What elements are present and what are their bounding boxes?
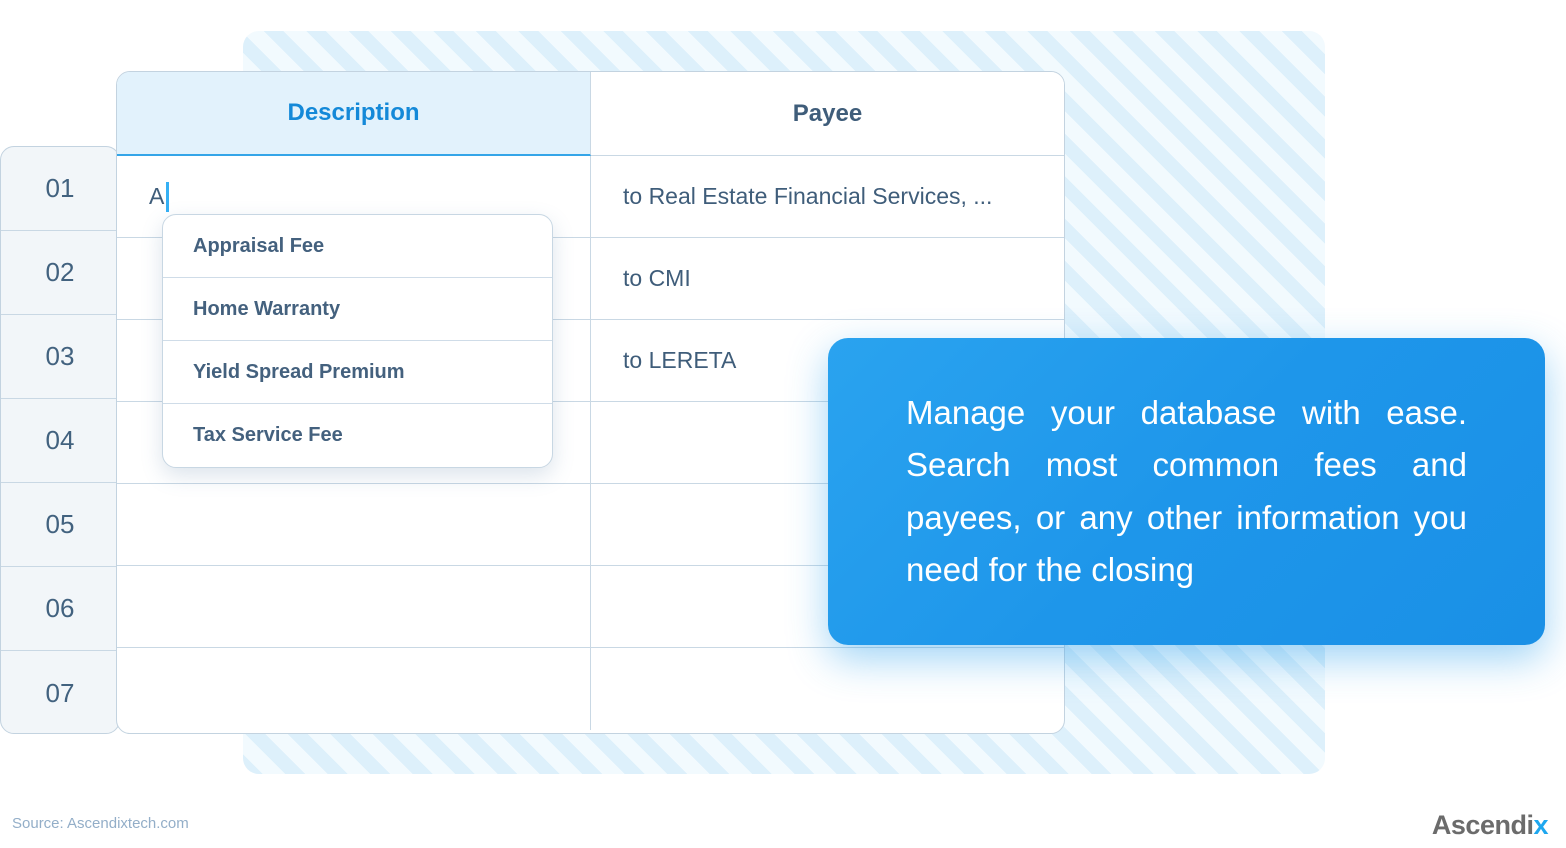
- row-index-cell: 04: [1, 399, 119, 483]
- autocomplete-option[interactable]: Tax Service Fee: [163, 404, 552, 467]
- logo-wordmark: Ascendi: [1432, 810, 1534, 840]
- row-index-cell: 02: [1, 231, 119, 315]
- payee-cell[interactable]: to Real Estate Financial Services, ...: [591, 156, 1064, 237]
- row-index-cell: 07: [1, 651, 119, 734]
- autocomplete-option[interactable]: Yield Spread Premium: [163, 341, 552, 404]
- logo-accent-letter: x: [1533, 810, 1548, 840]
- ascendix-logo: Ascendix: [1432, 810, 1548, 841]
- description-cell[interactable]: [117, 648, 591, 730]
- autocomplete-dropdown: Appraisal Fee Home Warranty Yield Spread…: [162, 214, 553, 468]
- row-index-cell: 03: [1, 315, 119, 399]
- autocomplete-option[interactable]: Home Warranty: [163, 278, 552, 341]
- description-cell[interactable]: [117, 566, 591, 647]
- description-input-wrap: A: [149, 182, 169, 212]
- description-cell[interactable]: [117, 484, 591, 565]
- description-input-value: A: [149, 183, 164, 210]
- column-header-description[interactable]: Description: [117, 72, 591, 156]
- table-row: [117, 648, 1064, 730]
- feature-callout: Manage your database with ease. Search m…: [828, 338, 1545, 645]
- row-index-cell: 01: [1, 147, 119, 231]
- payee-cell[interactable]: to CMI: [591, 238, 1064, 319]
- row-index-cell: 06: [1, 567, 119, 651]
- text-cursor-icon: [166, 182, 169, 212]
- autocomplete-option[interactable]: Appraisal Fee: [163, 215, 552, 278]
- column-header-payee[interactable]: Payee: [591, 72, 1064, 156]
- source-note: Source: Ascendixtech.com: [12, 815, 189, 832]
- payee-cell[interactable]: [591, 648, 1064, 730]
- callout-text: Manage your database with ease. Search m…: [906, 387, 1467, 596]
- row-index-column: 01 02 03 04 05 06 07: [0, 146, 120, 734]
- row-index-cell: 05: [1, 483, 119, 567]
- table-header-row: Description Payee: [117, 72, 1064, 156]
